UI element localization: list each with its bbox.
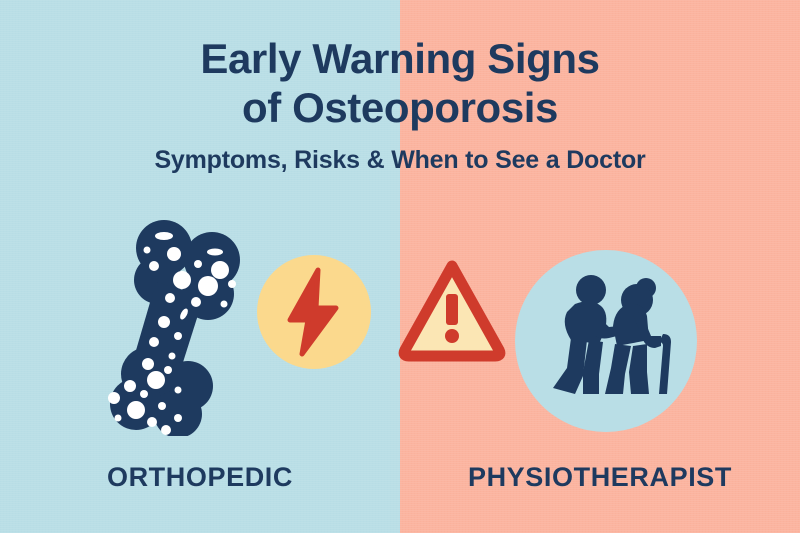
headline-block: Early Warning Signs of Osteoporosis Symp… <box>0 34 800 175</box>
physiotherapist-label: PHYSIOTHERAPIST <box>468 462 732 492</box>
exclamation-bar <box>446 294 458 325</box>
warning-triangle-icon <box>398 258 506 362</box>
exclamation-dot <box>445 329 459 343</box>
osteoporosis-infographic-poster: Early Warning Signs of Osteoporosis Symp… <box>0 0 800 533</box>
elderly-care-icon <box>513 248 699 434</box>
lightning-bolt-icon <box>256 254 372 370</box>
porous-bone-icon <box>92 218 262 436</box>
label-row: ORTHOPEDIC PHYSIOTHERAPIST <box>0 462 800 493</box>
title-line-1: Early Warning Signs <box>0 34 800 83</box>
title-line-2: of Osteoporosis <box>0 83 800 132</box>
orthopedic-label: ORTHOPEDIC <box>107 462 293 492</box>
label-cell-right: PHYSIOTHERAPIST <box>400 462 800 493</box>
label-cell-left: ORTHOPEDIC <box>0 462 400 493</box>
icon-strip <box>0 218 800 443</box>
subtitle: Symptoms, Risks & When to See a Doctor <box>0 145 800 175</box>
